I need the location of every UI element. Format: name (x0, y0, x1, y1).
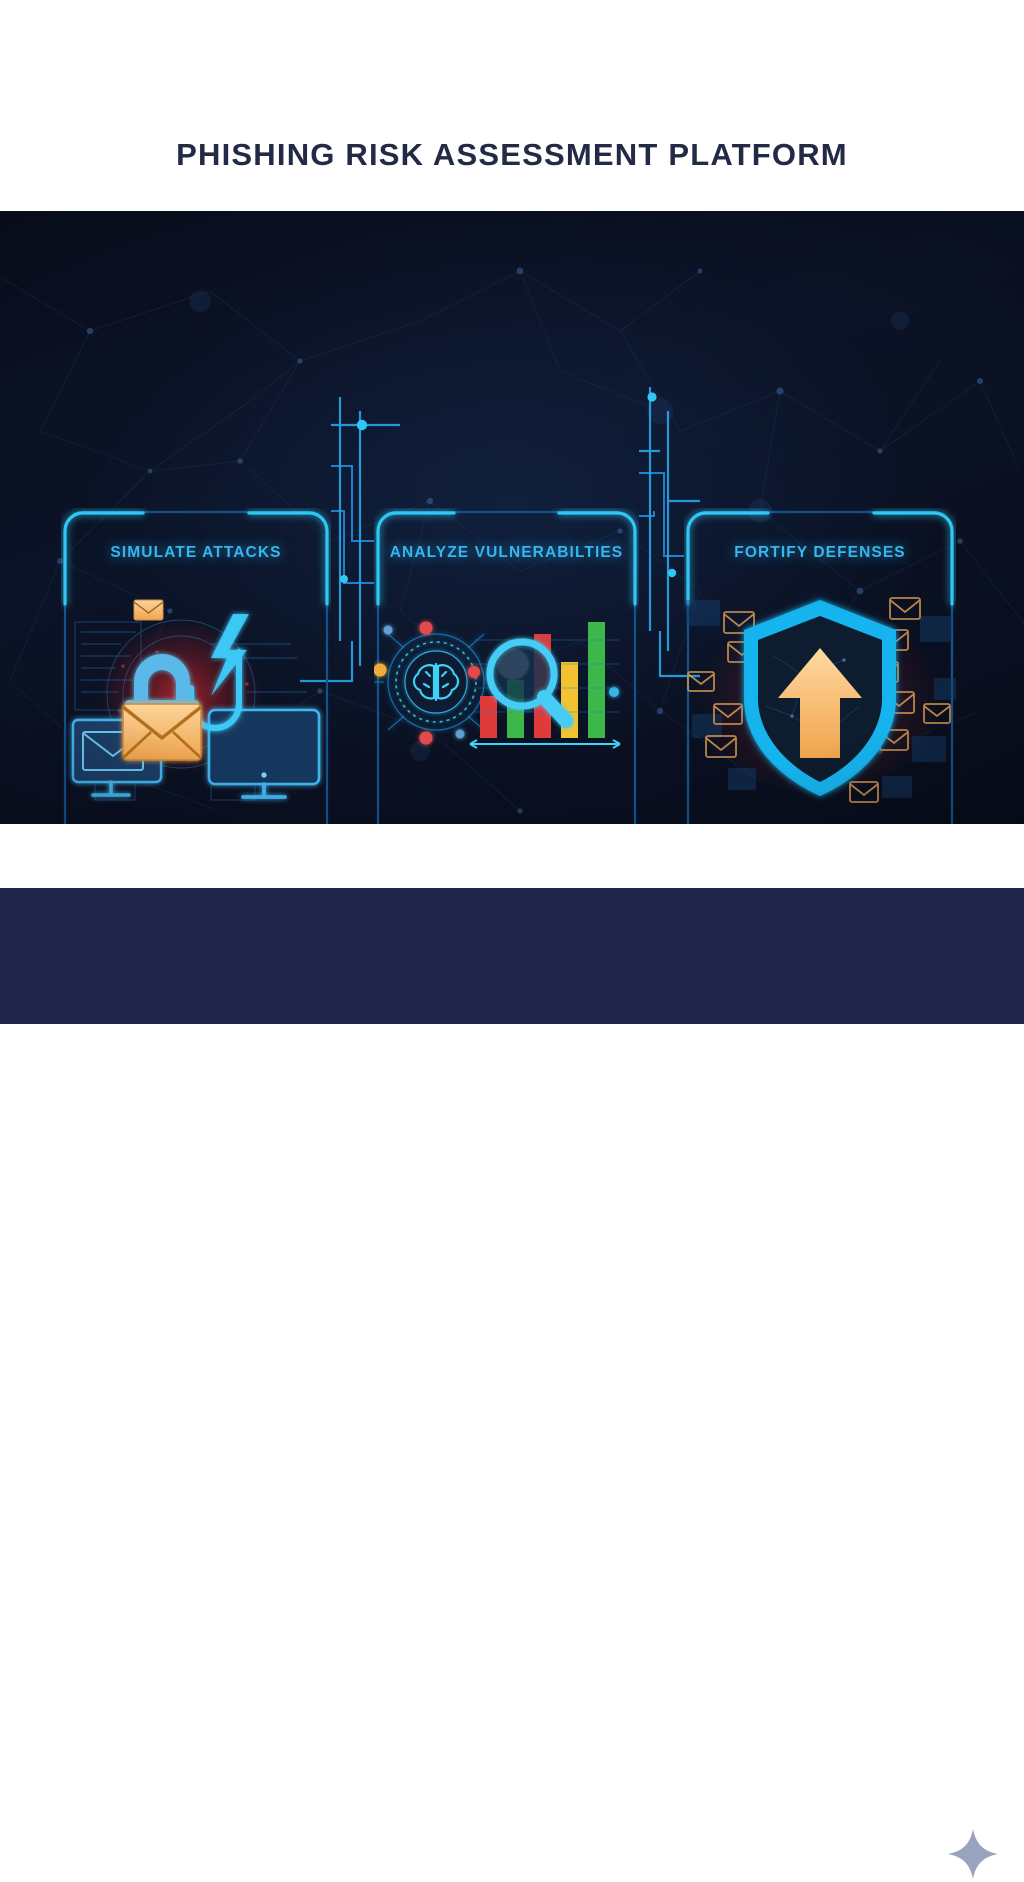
analyze-vulnerabilities-illustration (374, 604, 639, 794)
white-spacer-band (0, 824, 1024, 888)
hero-section: SIMULATE ATTACKS (0, 211, 1024, 824)
magnifier-icon (490, 642, 566, 721)
panel-title: FORTIFY DEFENSES (684, 544, 956, 562)
page-title: PHISHING RISK ASSESSMENT PLATFORM (0, 137, 1024, 173)
header-band: PHISHING RISK ASSESSMENT PLATFORM (0, 0, 1024, 211)
sparkle-icon (945, 1826, 1001, 1882)
simulate-attacks-illustration (61, 592, 331, 822)
brain-icon (374, 634, 484, 730)
panel-title: ANALYZE VULNERABILTIES (374, 544, 639, 562)
panel-fortify-defenses[interactable]: FORTIFY DEFENSES (684, 508, 956, 824)
footer-band (0, 888, 1024, 1024)
envelope-icon (123, 704, 201, 760)
fortify-defenses-illustration (684, 586, 956, 818)
panel-analyze-vulnerabilities[interactable]: ANALYZE VULNERABILTIES (374, 508, 639, 824)
envelope-icon (134, 600, 163, 620)
slide-canvas: PHISHING RISK ASSESSMENT PLATFORM (0, 0, 1024, 1024)
panel-simulate-attacks[interactable]: SIMULATE ATTACKS (61, 508, 331, 824)
panel-title: SIMULATE ATTACKS (61, 544, 331, 562)
